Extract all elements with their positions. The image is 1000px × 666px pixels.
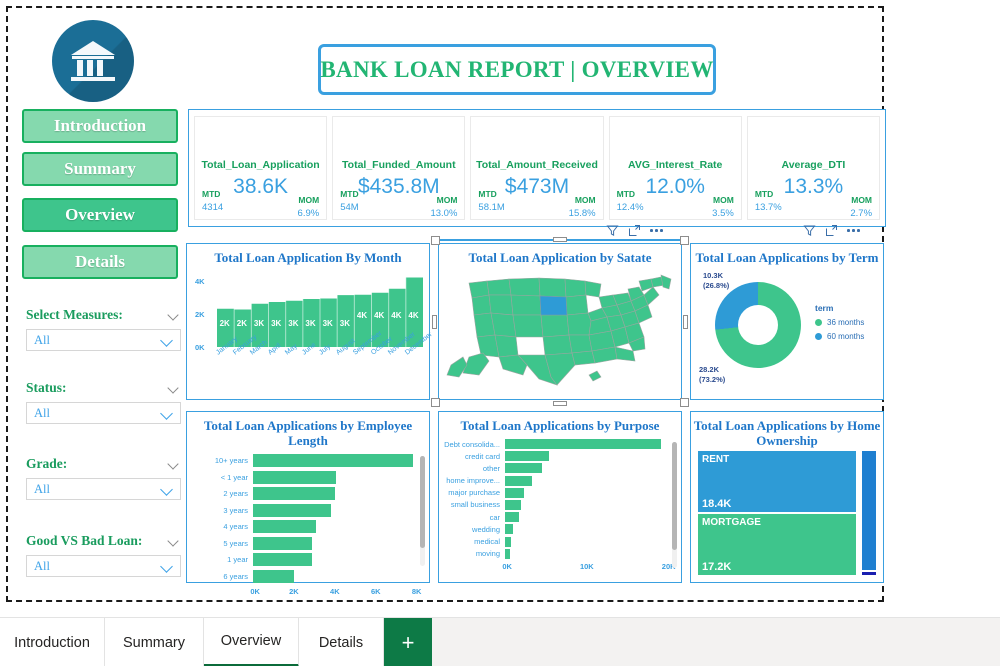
bar-track xyxy=(505,439,681,449)
data-label: 4K xyxy=(357,311,367,320)
axis-tick-label: 10K xyxy=(580,562,594,571)
bar-category-label: home improve... xyxy=(439,476,505,485)
slicer-dropdown[interactable]: All xyxy=(26,329,181,351)
slicer-dropdown[interactable]: All xyxy=(26,478,181,500)
bar-row[interactable]: 4 years xyxy=(187,520,429,533)
chevron-down-icon[interactable] xyxy=(168,311,181,319)
donut-callout-60-months: 10.3K (26.8%) xyxy=(703,271,729,291)
kpi-mom-value: 6.9% xyxy=(298,208,320,219)
treemap-tile-label: RENT xyxy=(702,454,729,465)
bar-row[interactable]: other xyxy=(439,463,681,473)
treemap-tile-label: MORTGAGE xyxy=(702,517,761,528)
data-label: 3K xyxy=(271,319,281,328)
nav-button-summary[interactable]: Summary xyxy=(22,152,178,186)
axis-tick-label: 6K xyxy=(371,587,381,596)
axis-tick-label: 4K xyxy=(330,587,340,596)
bar-fill xyxy=(505,451,549,461)
tab-label: Introduction xyxy=(14,635,90,651)
chart-title: Total Loan Application By Month xyxy=(187,244,429,265)
slicer-label: Good VS Bad Loan: xyxy=(26,533,142,549)
axis-tick-label: 2K xyxy=(195,310,205,319)
kpi-mom-value: 13.0% xyxy=(430,208,457,219)
filter-funnel-icon[interactable] xyxy=(803,224,816,237)
bar-track xyxy=(253,553,429,566)
slicer-label: Status: xyxy=(26,380,67,396)
slicer-dropdown[interactable]: All xyxy=(26,402,181,424)
bank-building-icon xyxy=(52,20,134,102)
bar-fill xyxy=(253,520,316,533)
treemap-tile-value: 18.4K xyxy=(702,498,731,510)
bar-track xyxy=(253,570,429,583)
kpi-mtd-label: MTD xyxy=(617,189,635,199)
bar-row[interactable]: major purchase xyxy=(439,488,681,498)
bar-category-label: 6 years xyxy=(187,572,253,581)
chart-scrollbar[interactable] xyxy=(672,442,677,568)
data-label: 3K xyxy=(323,319,333,328)
chart-title: Total Loan Applications by Term xyxy=(691,244,883,265)
bar-row[interactable]: home improve... xyxy=(439,476,681,486)
donut-ring xyxy=(715,282,801,368)
kpi-mtd-value: 54M xyxy=(340,202,358,213)
kpi-card-strip: Total_Loan_Application 38.6K MTD 4314 MO… xyxy=(188,109,886,227)
bar-row[interactable]: 6 years xyxy=(187,570,429,583)
legend-label: 36 months xyxy=(827,318,864,327)
bar-track xyxy=(253,520,429,533)
kpi-mom-label: MOM xyxy=(575,195,596,205)
bar-row[interactable]: Debt consolida... xyxy=(439,439,681,449)
axis-tick-label: 2K xyxy=(289,587,299,596)
bar-row[interactable]: 5 years xyxy=(187,537,429,550)
kpi-name: Average_DTI xyxy=(748,159,879,171)
bar-track xyxy=(505,524,681,534)
bar-fill xyxy=(505,549,510,559)
bar-fill xyxy=(505,512,519,522)
page-tab-bar: Introduction Summary Overview Details + xyxy=(0,617,1000,666)
bar-fill xyxy=(253,537,312,550)
kpi-mtd-label: MTD xyxy=(478,189,496,199)
kpi-card-total-amount-received[interactable]: Total_Amount_Received $473M MTD 58.1M MO… xyxy=(470,116,603,220)
bar-row[interactable]: 3 years xyxy=(187,504,429,517)
nav-button-label: Details xyxy=(75,252,125,272)
slicer-value: All xyxy=(34,333,50,348)
bar-row[interactable]: 10+ years xyxy=(187,454,429,467)
bar-fill xyxy=(505,537,511,547)
axis-tick-label: 4K xyxy=(195,277,205,286)
kpi-card-total-loan-application[interactable]: Total_Loan_Application 38.6K MTD 4314 MO… xyxy=(194,116,327,220)
bar-category-label: 3 years xyxy=(187,506,253,515)
bar-row[interactable]: credit card xyxy=(439,451,681,461)
page-title-text: BANK LOAN REPORT | OVERVIEW xyxy=(320,57,713,83)
visual-header-map xyxy=(606,224,663,237)
bar-fill xyxy=(253,471,336,484)
tab-label: Summary xyxy=(123,635,185,651)
data-label: 3K xyxy=(288,319,298,328)
data-label: 4K xyxy=(374,311,384,320)
bar-row[interactable]: car xyxy=(439,512,681,522)
kpi-mtd-label: MTD xyxy=(202,189,220,199)
chart-total-loan-application-by-state[interactable]: Total Loan Application by Satate xyxy=(438,243,682,400)
bar-fill xyxy=(505,488,524,498)
report-canvas: BANK LOAN REPORT | OVERVIEW Introduction… xyxy=(6,6,884,602)
nav-button-introduction[interactable]: Introduction xyxy=(22,109,178,143)
chart-title: Total Loan Applications by Purpose xyxy=(439,412,681,433)
bar-track xyxy=(505,549,681,559)
kpi-card-average-dti[interactable]: Average_DTI 13.3% MTD 13.7% MOM 2.7% xyxy=(747,116,880,220)
bar-track xyxy=(253,487,429,500)
bar-row[interactable]: medical xyxy=(439,537,681,547)
bar-track xyxy=(505,451,681,461)
data-label: 3K xyxy=(340,319,350,328)
bar-fill xyxy=(253,570,294,583)
treemap-plot: RENT 18.4K MORTGAGE 17.2K xyxy=(697,450,877,576)
bar-category-label: wedding xyxy=(439,525,505,534)
bar-category-label: car xyxy=(439,513,505,522)
kpi-mom-value: 15.8% xyxy=(569,208,596,219)
bar-row[interactable]: wedding xyxy=(439,524,681,534)
bar-row[interactable]: 1 year xyxy=(187,553,429,566)
focus-mode-icon[interactable] xyxy=(628,224,641,237)
kpi-mom-value: 3.5% xyxy=(712,208,734,219)
nav-button-label: Overview xyxy=(65,205,135,225)
bar-category-label: moving xyxy=(439,549,505,558)
more-options-icon[interactable] xyxy=(847,229,860,232)
area-chart-plot: 0K2K4K2K2K3K3K3K3K3K3K4K4K4K4KJanuaryFeb… xyxy=(187,265,429,393)
kpi-mtd-value: 4314 xyxy=(202,202,223,213)
nav-button-details[interactable]: Details xyxy=(22,245,178,279)
x-axis: 0K10K20K xyxy=(505,561,681,573)
chart-scrollbar[interactable] xyxy=(420,456,425,566)
donut-callout-36-months: 28.2K (73.2%) xyxy=(699,365,725,385)
treemap-tile-own[interactable] xyxy=(861,450,877,571)
bar-track xyxy=(253,454,429,467)
visual-header-term xyxy=(803,224,860,237)
data-label: 3K xyxy=(305,319,315,328)
kpi-name: AVG_Interest_Rate xyxy=(610,159,741,171)
bar-category-label: 10+ years xyxy=(187,456,253,465)
bar-chart-plot: Debt consolida...credit cardotherhome im… xyxy=(439,439,681,573)
add-page-button[interactable]: + xyxy=(384,618,432,666)
donut-chart-plot: 10.3K (26.8%) 28.2K (73.2%) term 36 mont… xyxy=(691,265,883,393)
bar-category-label: 5 years xyxy=(187,539,253,548)
tab-label: Overview xyxy=(221,633,281,649)
bar-track xyxy=(253,471,429,484)
page-title: BANK LOAN REPORT | OVERVIEW xyxy=(318,44,716,95)
slicer-good-vs-bad-loan[interactable]: Good VS Bad Loan: All xyxy=(26,532,181,577)
bar-fill xyxy=(253,553,312,566)
bar-category-label: other xyxy=(439,464,505,473)
kpi-mtd-label: MTD xyxy=(755,189,773,199)
slicer-value: All xyxy=(34,559,50,574)
kpi-mom-label: MOM xyxy=(298,195,319,205)
bar-category-label: credit card xyxy=(439,452,505,461)
chart-title: Total Loan Applications by Home Ownershi… xyxy=(691,412,883,448)
bar-fill xyxy=(505,500,521,510)
data-label: 3K xyxy=(254,319,264,328)
data-label: 2K xyxy=(237,319,247,328)
data-label: 4K xyxy=(391,311,401,320)
bar-row[interactable]: moving xyxy=(439,549,681,559)
kpi-mom-label: MOM xyxy=(713,195,734,205)
tab-label: Details xyxy=(319,635,363,651)
bar-fill xyxy=(505,463,542,473)
more-options-icon[interactable] xyxy=(650,229,663,232)
bar-track xyxy=(505,537,681,547)
bar-track xyxy=(505,512,681,522)
tab-details[interactable]: Details xyxy=(299,618,384,666)
x-axis: 0K2K4K6K8K xyxy=(253,586,429,598)
bar-category-label: < 1 year xyxy=(187,473,253,482)
filter-funnel-icon[interactable] xyxy=(606,224,619,237)
data-label: 2K xyxy=(220,319,230,328)
bar-category-label: medical xyxy=(439,537,505,546)
tab-summary[interactable]: Summary xyxy=(105,618,204,666)
nav-button-label: Summary xyxy=(64,159,136,179)
bar-row[interactable]: small business xyxy=(439,500,681,510)
tab-overview[interactable]: Overview xyxy=(204,618,299,666)
bar-category-label: small business xyxy=(439,500,505,509)
slicer-label: Grade: xyxy=(26,456,67,472)
legend-title: term xyxy=(815,303,864,313)
chart-scrollbar-thumb[interactable] xyxy=(672,442,677,550)
bar-row[interactable]: 2 years xyxy=(187,487,429,500)
kpi-mom-label: MOM xyxy=(437,195,458,205)
axis-tick-label: 0K xyxy=(195,343,205,352)
bar-category-label: 2 years xyxy=(187,489,253,498)
kpi-mom-value: 2.7% xyxy=(850,208,872,219)
chevron-down-icon[interactable] xyxy=(168,384,181,392)
slicer-label: Select Measures: xyxy=(26,307,123,323)
kpi-name: Total_Amount_Received xyxy=(471,159,602,171)
bar-chart-plot: 10+ years< 1 year2 years3 years4 years5 … xyxy=(187,454,429,598)
legend-label: 60 months xyxy=(827,332,864,341)
us-map-plot xyxy=(439,265,681,393)
axis-tick-label: 0K xyxy=(502,562,512,571)
bar-fill xyxy=(253,504,331,517)
chevron-down-icon[interactable] xyxy=(168,460,181,468)
bar-fill xyxy=(505,476,532,486)
axis-tick-label: 8K xyxy=(412,587,422,596)
power-bi-report-window: BANK LOAN REPORT | OVERVIEW Introduction… xyxy=(0,0,1000,666)
bar-track xyxy=(253,504,429,517)
legend-item[interactable]: 36 months xyxy=(815,318,864,327)
bar-fill xyxy=(253,487,335,500)
slicer-dropdown[interactable]: All xyxy=(26,555,181,577)
legend-swatch xyxy=(815,333,822,340)
treemap-tile-other[interactable] xyxy=(861,571,877,576)
tab-introduction[interactable]: Introduction xyxy=(0,618,105,666)
kpi-name: Total_Loan_Application xyxy=(195,159,326,171)
kpi-card-avg-interest-rate[interactable]: AVG_Interest_Rate 12.0% MTD 12.4% MOM 3.… xyxy=(609,116,742,220)
slicer-value: All xyxy=(34,406,50,421)
donut-legend: term 36 months 60 months xyxy=(815,303,864,346)
treemap-tile-rent[interactable]: RENT 18.4K xyxy=(697,450,857,513)
chevron-down-icon[interactable] xyxy=(161,336,174,344)
chart-total-loan-applications-by-term[interactable]: Total Loan Applications by Term 10.3K (2… xyxy=(690,243,884,400)
chevron-down-icon[interactable] xyxy=(161,562,174,570)
bar-track xyxy=(505,500,681,510)
bar-track xyxy=(253,537,429,550)
kpi-card-total-funded-amount[interactable]: Total_Funded_Amount $435.8M MTD 54M MOM … xyxy=(332,116,465,220)
bar-fill xyxy=(253,454,413,467)
chevron-down-icon[interactable] xyxy=(168,537,181,545)
bar-row[interactable]: < 1 year xyxy=(187,471,429,484)
nav-button-label: Introduction xyxy=(54,116,146,136)
chart-total-loan-applications-by-home-ownership[interactable]: Total Loan Applications by Home Ownershi… xyxy=(690,411,884,583)
chart-title: Total Loan Applications by Employee Leng… xyxy=(187,412,429,448)
kpi-mom-label: MOM xyxy=(851,195,872,205)
bar-category-label: major purchase xyxy=(439,488,505,497)
data-label: 4K xyxy=(408,311,418,320)
kpi-name: Total_Funded_Amount xyxy=(333,159,464,171)
bar-category-label: Debt consolida... xyxy=(439,440,505,449)
chevron-down-icon[interactable] xyxy=(161,409,174,417)
kpi-mtd-label: MTD xyxy=(340,189,358,199)
legend-swatch xyxy=(815,319,822,326)
chart-total-loan-application-by-month[interactable]: Total Loan Application By Month 0K2K4K2K… xyxy=(186,243,430,400)
focus-mode-icon[interactable] xyxy=(825,224,838,237)
bar-track xyxy=(505,476,681,486)
bar-fill xyxy=(505,524,513,534)
bar-fill xyxy=(505,439,661,449)
bar-category-label: 1 year xyxy=(187,555,253,564)
slicer-value: All xyxy=(34,482,50,497)
axis-tick-label: 0K xyxy=(250,587,260,596)
chart-total-loan-applications-by-employee-length[interactable]: Total Loan Applications by Employee Leng… xyxy=(186,411,430,583)
treemap-tile-value: 17.2K xyxy=(702,561,731,573)
bar-track xyxy=(505,488,681,498)
chart-total-loan-applications-by-purpose[interactable]: Total Loan Applications by Purpose Debt … xyxy=(438,411,682,583)
chart-title: Total Loan Application by Satate xyxy=(439,244,681,265)
plus-icon: + xyxy=(402,632,415,654)
kpi-mtd-value: 58.1M xyxy=(478,202,504,213)
nav-button-overview[interactable]: Overview xyxy=(22,198,178,232)
legend-item[interactable]: 60 months xyxy=(815,332,864,341)
kpi-mtd-value: 12.4% xyxy=(617,202,644,213)
chart-scrollbar-thumb[interactable] xyxy=(420,456,425,548)
slicer-select-measures[interactable]: Select Measures: All xyxy=(26,306,181,351)
kpi-mtd-value: 13.7% xyxy=(755,202,782,213)
slicer-grade[interactable]: Grade: All xyxy=(26,455,181,500)
bar-category-label: 4 years xyxy=(187,522,253,531)
slicer-status[interactable]: Status: All xyxy=(26,379,181,424)
bar-track xyxy=(505,463,681,473)
chevron-down-icon[interactable] xyxy=(161,485,174,493)
treemap-tile-mortgage[interactable]: MORTGAGE 17.2K xyxy=(697,513,857,576)
